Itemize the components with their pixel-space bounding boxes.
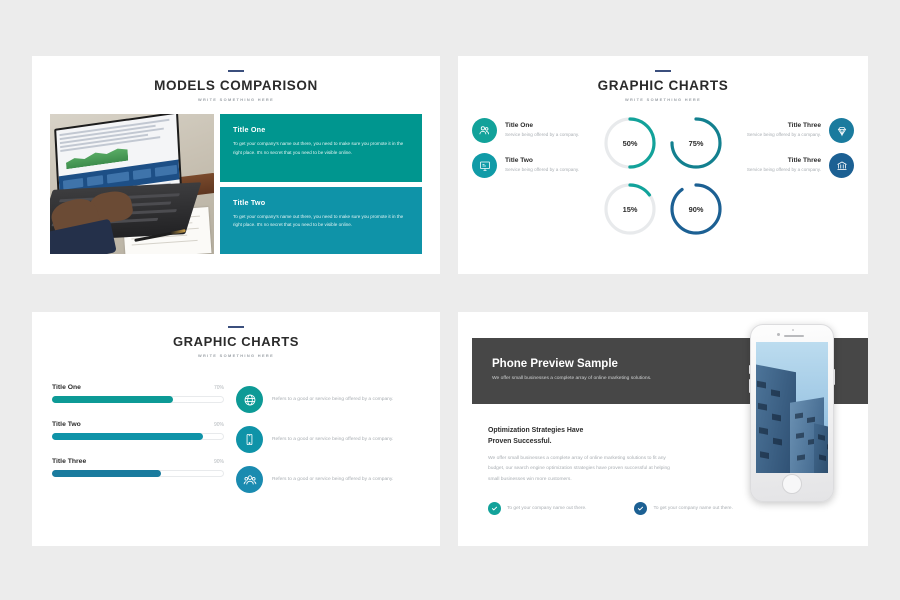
people-icon [472, 118, 497, 143]
accent-dash [228, 70, 244, 72]
phone-home-button[interactable] [782, 474, 802, 494]
check-item-1[interactable]: To get your company name out there. [488, 502, 586, 515]
feature-item-phone[interactable]: Refers to a good or service being offere… [236, 426, 420, 453]
feature-desc: Service being offered by a company. [505, 131, 579, 139]
band-subtitle: We offer small businesses a complete arr… [492, 376, 651, 381]
progress-bar-row[interactable]: Title Two 90% [52, 421, 224, 440]
feature-desc: Refers to a good or service being offere… [272, 435, 393, 445]
slide-models-comparison[interactable]: MODELS COMPARISON WRITE SOMETHING HERE [32, 56, 440, 274]
feature-desc: Service being offered by a company. [747, 166, 821, 174]
bar-fill [52, 433, 203, 440]
phone-screen-photo [756, 342, 828, 473]
progress-bar-list: Title One 70% Title Two 90% [52, 384, 224, 506]
bar-percent: 70% [214, 385, 224, 391]
card-body: To get your company's name out there, yo… [233, 213, 409, 231]
progress-bar-row[interactable]: Title Three 90% [52, 458, 224, 477]
bar-label: Title Two [52, 421, 81, 428]
phone-icon [236, 426, 263, 453]
bar-percent: 90% [214, 422, 224, 428]
slide-body: Title One To get your company's name out… [32, 102, 440, 254]
feature-desc: Refers to a good or service being offere… [272, 475, 393, 485]
feature-title: Title One [505, 122, 579, 129]
people-icon [236, 466, 263, 493]
copy-heading-line-1: Optimization Strategies Have [488, 427, 583, 434]
card-title-one[interactable]: Title One To get your company's name out… [220, 114, 422, 182]
feature-title: Title Three [747, 122, 821, 129]
page-title: GRAPHIC CHARTS [32, 334, 440, 349]
donut-value: 15% [601, 180, 659, 238]
card-title: Title Two [233, 198, 409, 207]
feature-title: Title Two [505, 157, 579, 164]
slide-graphic-charts-bars[interactable]: GRAPHIC CHARTS WRITE SOMETHING HERE Titl… [32, 312, 440, 546]
check-text: To get your company name out there. [653, 504, 732, 513]
progress-bar-row[interactable]: Title One 70% [52, 384, 224, 403]
feature-item-globe[interactable]: Refers to a good or service being offere… [236, 386, 420, 413]
feature-text: Title One Service being offered by a com… [505, 122, 579, 139]
bar-fill [52, 396, 173, 403]
bar-label: Title Three [52, 458, 86, 465]
bar-track [52, 433, 224, 440]
donut-chart-75: 75% [667, 114, 725, 172]
card-title: Title One [233, 125, 409, 134]
copy-block: Optimization Strategies Have Proven Succ… [488, 426, 680, 485]
card-body: To get your company's name out there, yo… [233, 140, 409, 158]
donut-chart-15: 15% [601, 180, 659, 238]
feature-desc: Service being offered by a company. [505, 166, 579, 174]
laptop-photo [50, 114, 214, 254]
slide-phone-preview[interactable]: Phone Preview Sample We offer small busi… [458, 312, 868, 546]
copy-heading-line-2: Proven Successful. [488, 438, 552, 445]
phone-mockup [750, 324, 834, 502]
feature-text: Title Two Service being offered by a com… [505, 157, 579, 174]
bar-track [52, 470, 224, 477]
presentation-icon [472, 153, 497, 178]
slide-deck-preview: MODELS COMPARISON WRITE SOMETHING HERE [0, 0, 900, 600]
donut-value: 75% [667, 114, 725, 172]
bar-track [52, 396, 224, 403]
check-list: To get your company name out there. To g… [488, 502, 733, 515]
donut-chart-50: 50% [601, 114, 659, 172]
band-title: Phone Preview Sample [492, 358, 618, 370]
page-title: GRAPHIC CHARTS [458, 78, 868, 93]
bar-percent: 90% [214, 459, 224, 465]
feature-item-people[interactable]: Refers to a good or service being offere… [236, 466, 420, 493]
bank-icon [829, 153, 854, 178]
check-icon [488, 502, 501, 515]
copy-heading: Optimization Strategies Have Proven Succ… [488, 426, 680, 447]
slide-graphic-charts-donuts[interactable]: GRAPHIC CHARTS WRITE SOMETHING HERE Titl… [458, 56, 868, 274]
comparison-cards: Title One To get your company's name out… [220, 114, 422, 254]
globe-icon [236, 386, 263, 413]
accent-dash [228, 326, 244, 328]
donut-chart-90: 90% [667, 180, 725, 238]
copy-paragraph: We offer small businesses a complete arr… [488, 454, 680, 484]
slide-header: GRAPHIC CHARTS WRITE SOMETHING HERE [32, 312, 440, 358]
check-text: To get your company name out there. [507, 504, 586, 513]
bar-label: Title One [52, 384, 81, 391]
check-icon [634, 502, 647, 515]
slide-header: MODELS COMPARISON WRITE SOMETHING HERE [32, 56, 440, 102]
card-title-two[interactable]: Title Two To get your company's name out… [220, 187, 422, 255]
feature-list: Refers to a good or service being offere… [236, 384, 420, 506]
feature-desc: Refers to a good or service being offere… [272, 395, 393, 405]
feature-text: Title Three Service being offered by a c… [747, 157, 821, 174]
feature-title: Title Three [747, 157, 821, 164]
slide-header: GRAPHIC CHARTS WRITE SOMETHING HERE [458, 56, 868, 102]
page-title: MODELS COMPARISON [32, 78, 440, 93]
slide-body: Title One 70% Title Two 90% [32, 358, 440, 506]
diamond-icon [829, 118, 854, 143]
donut-value: 90% [667, 180, 725, 238]
feature-text: Title Three Service being offered by a c… [747, 122, 821, 139]
check-item-2[interactable]: To get your company name out there. [634, 502, 732, 515]
donut-value: 50% [601, 114, 659, 172]
bar-fill [52, 470, 161, 477]
feature-desc: Service being offered by a company. [747, 131, 821, 139]
accent-dash [655, 70, 671, 72]
donut-chart-group: 50% 75% 15% 90 [601, 114, 725, 238]
